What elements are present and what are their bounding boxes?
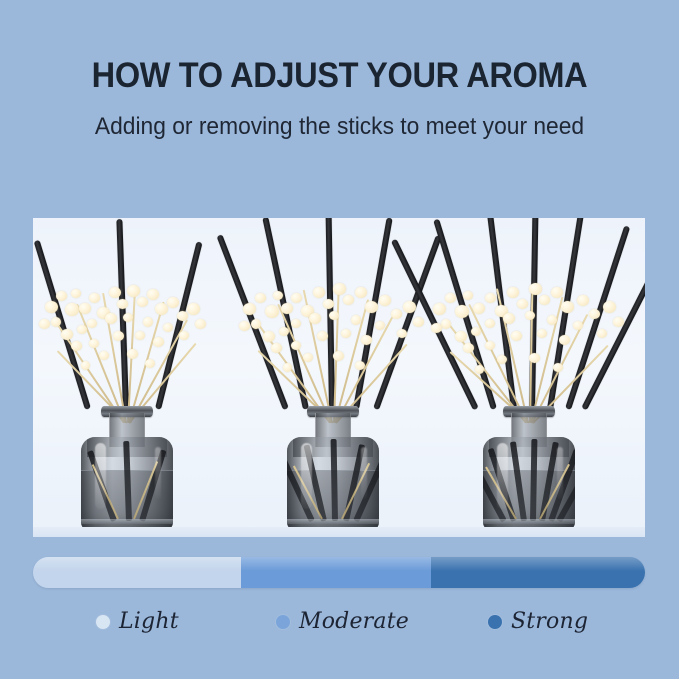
legend-dot-icon xyxy=(276,615,290,629)
legend-label: Moderate xyxy=(299,609,409,634)
intensity-segment-moderate xyxy=(241,557,431,588)
bottle-body xyxy=(483,437,575,531)
legend-dot-icon xyxy=(96,615,110,629)
diffuser-bottle xyxy=(81,399,173,531)
intensity-segment-light xyxy=(33,557,241,588)
page-title: HOW TO ADJUST YOUR AROMA xyxy=(24,56,655,96)
bottle-body xyxy=(287,437,379,531)
bottle-body xyxy=(81,437,173,531)
legend-item-light: Light xyxy=(96,609,179,634)
legend-label: Light xyxy=(119,609,179,634)
diffuser-bottle xyxy=(483,399,575,531)
legend-dot-icon xyxy=(488,615,502,629)
product-photo-panel xyxy=(33,218,645,537)
light-diffuser xyxy=(33,218,227,531)
page-subtitle-wrap: Adding or removing the sticks to meet yo… xyxy=(0,113,679,141)
page-title-wrap: HOW TO ADJUST YOUR AROMA xyxy=(0,56,679,96)
legend-label: Strong xyxy=(511,609,588,634)
intensity-bar xyxy=(33,557,645,588)
diffuser-bottle xyxy=(287,399,379,531)
legend: Light Moderate Strong xyxy=(33,609,645,647)
photo-shelf-edge xyxy=(33,527,645,537)
intensity-segment-strong xyxy=(431,557,645,588)
legend-item-moderate: Moderate xyxy=(276,609,409,634)
page-subtitle: Adding or removing the sticks to meet yo… xyxy=(17,113,662,141)
strong-diffuser xyxy=(429,218,629,531)
legend-item-strong: Strong xyxy=(488,609,588,634)
aroma-infographic: HOW TO ADJUST YOUR AROMA Adding or remov… xyxy=(0,0,679,679)
